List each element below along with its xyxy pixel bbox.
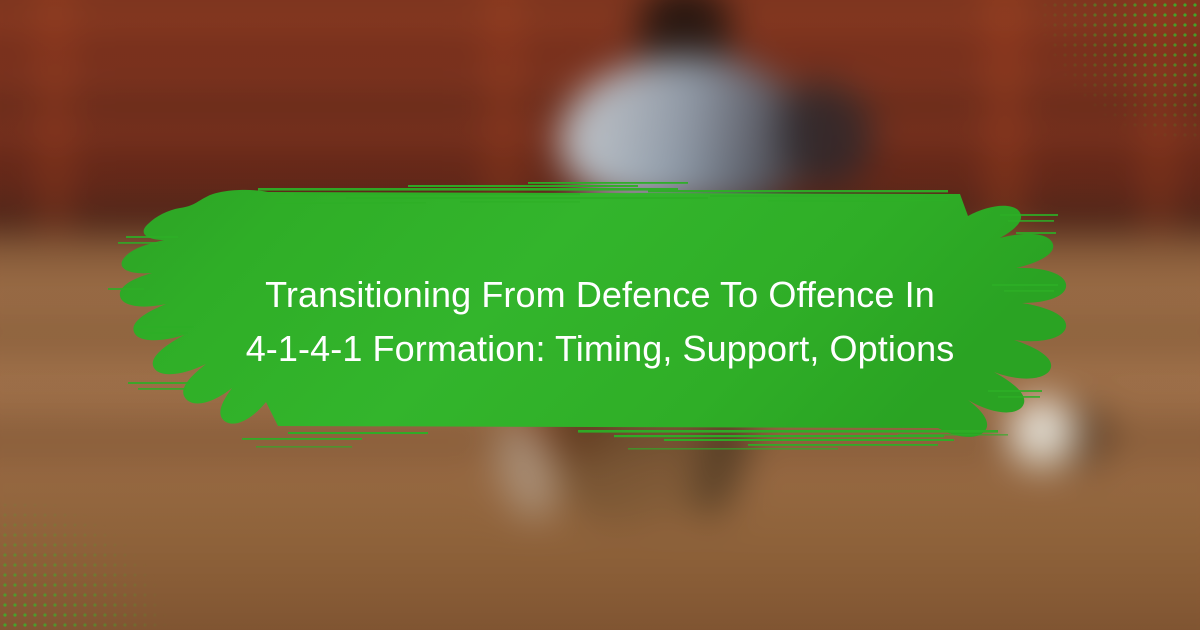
halftone-dots-bottom-left-icon bbox=[0, 490, 190, 630]
title-line-1: Transitioning From Defence To Offence In bbox=[150, 268, 1050, 322]
share-banner: Transitioning From Defence To Offence In… bbox=[0, 0, 1200, 630]
page-title: Transitioning From Defence To Offence In… bbox=[150, 268, 1050, 376]
halftone-dots-top-right-icon bbox=[1030, 0, 1200, 150]
title-line-2: 4-1-4-1 Formation: Timing, Support, Opti… bbox=[150, 322, 1050, 376]
